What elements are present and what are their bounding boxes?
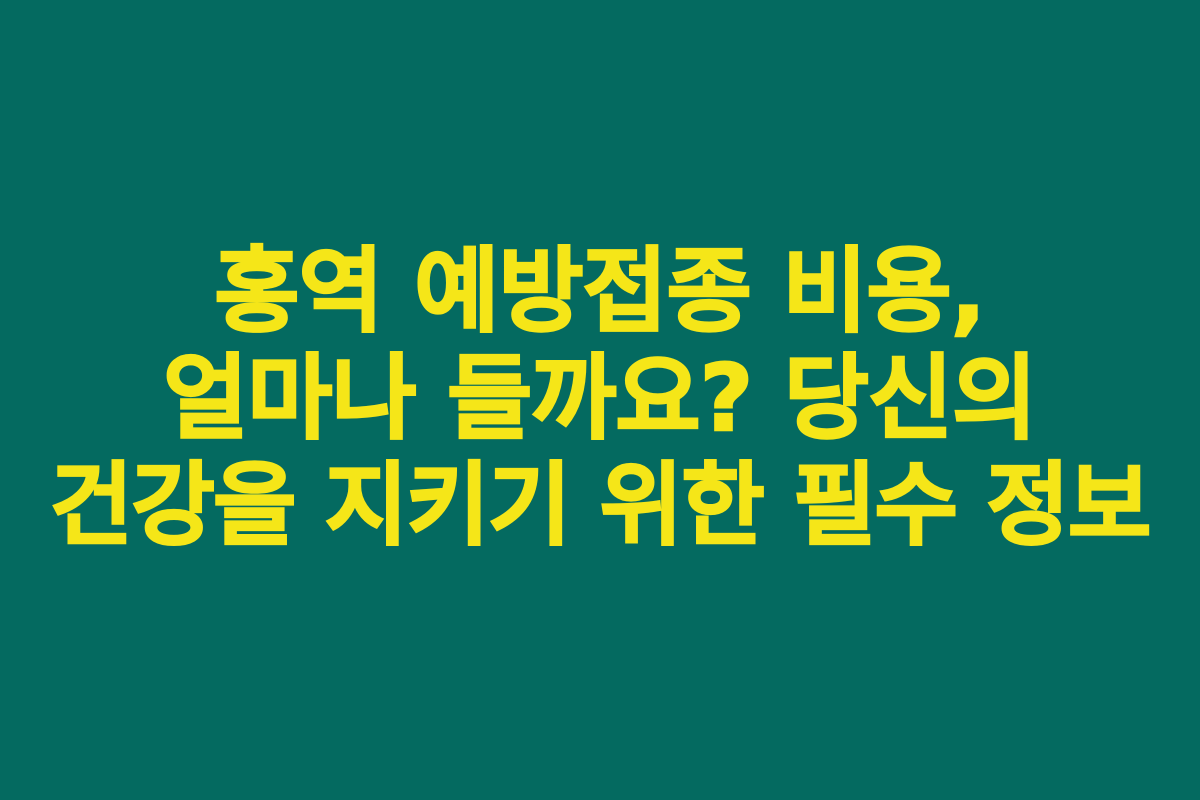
title-card: 홍역 예방접종 비용, 얼마나 들까요? 당신의 건강을 지키기 위한 필수 정… (0, 0, 1200, 800)
title-line-2: 얼마나 들까요? 당신의 (0, 345, 1200, 452)
page-title: 홍역 예방접종 비용, 얼마나 들까요? 당신의 건강을 지키기 위한 필수 정… (0, 238, 1200, 559)
title-line-3: 건강을 지키기 위한 필수 정보 (0, 452, 1200, 559)
title-line-1: 홍역 예방접종 비용, (0, 238, 1200, 345)
